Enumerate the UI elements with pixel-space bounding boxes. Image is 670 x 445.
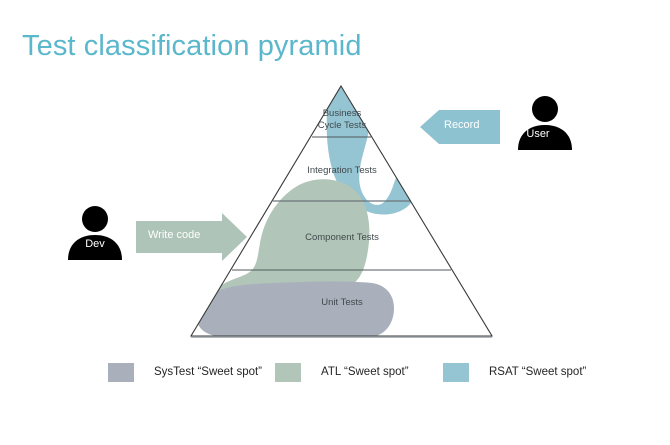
slide-canvas: Test classification pyramid <box>0 0 670 445</box>
legend-item-systest: SysTest “Sweet spot” <box>108 361 262 383</box>
write-code-arrow[interactable] <box>136 213 247 261</box>
record-arrow[interactable] <box>420 110 500 144</box>
legend-swatch-atl <box>275 363 301 382</box>
legend-label-atl: ATL “Sweet spot” <box>321 366 409 378</box>
legend-swatch-rsat <box>443 363 469 382</box>
systest-blob <box>197 281 394 340</box>
legend-label-rsat: RSAT “Sweet spot” <box>489 366 586 378</box>
dev-person-icon <box>68 206 122 260</box>
legend: SysTest “Sweet spot” ATL “Sweet spot” RS… <box>108 361 578 383</box>
legend-swatch-systest <box>108 363 134 382</box>
legend-item-rsat: RSAT “Sweet spot” <box>443 361 586 383</box>
user-person-icon <box>518 96 572 150</box>
legend-label-systest: SysTest “Sweet spot” <box>154 366 262 378</box>
legend-item-atl: ATL “Sweet spot” <box>275 361 409 383</box>
